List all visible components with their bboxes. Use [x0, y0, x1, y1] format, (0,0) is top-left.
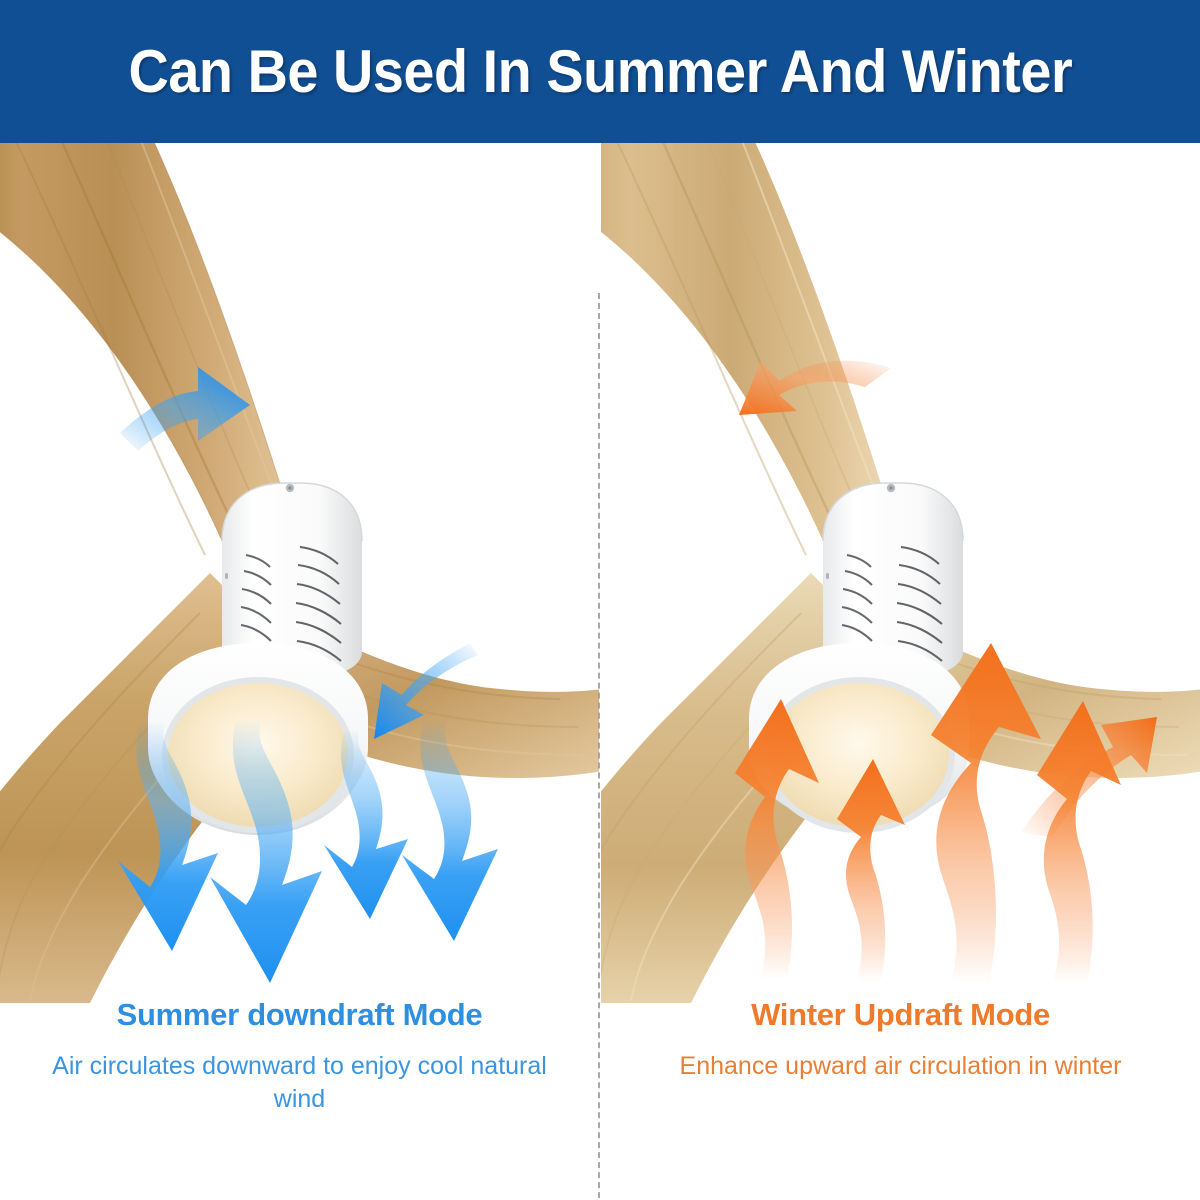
- summer-mode-description: Air circulates downward to enjoy cool na…: [0, 1050, 599, 1117]
- panel-summer: Summer downdraft Mode Air circulates dow…: [0, 143, 599, 1200]
- panel-divider: [598, 293, 600, 1200]
- panels-container: Summer downdraft Mode Air circulates dow…: [0, 143, 1200, 1200]
- page-title: Can Be Used In Summer And Winter: [128, 37, 1072, 106]
- winter-mode-title: Winter Updraft Mode: [601, 998, 1200, 1032]
- product-infographic: Can Be Used In Summer And Winter: [0, 0, 1200, 1200]
- winter-illustration: [601, 143, 1200, 1003]
- winter-mode-description: Enhance upward air circulation in winter: [601, 1050, 1200, 1083]
- header-banner: Can Be Used In Summer And Winter: [0, 0, 1200, 143]
- panel-winter: Winter Updraft Mode Enhance upward air c…: [601, 143, 1200, 1200]
- winter-caption: Winter Updraft Mode Enhance upward air c…: [601, 998, 1200, 1083]
- summer-illustration: [0, 143, 599, 1003]
- summer-mode-title: Summer downdraft Mode: [0, 998, 599, 1032]
- summer-caption: Summer downdraft Mode Air circulates dow…: [0, 998, 599, 1117]
